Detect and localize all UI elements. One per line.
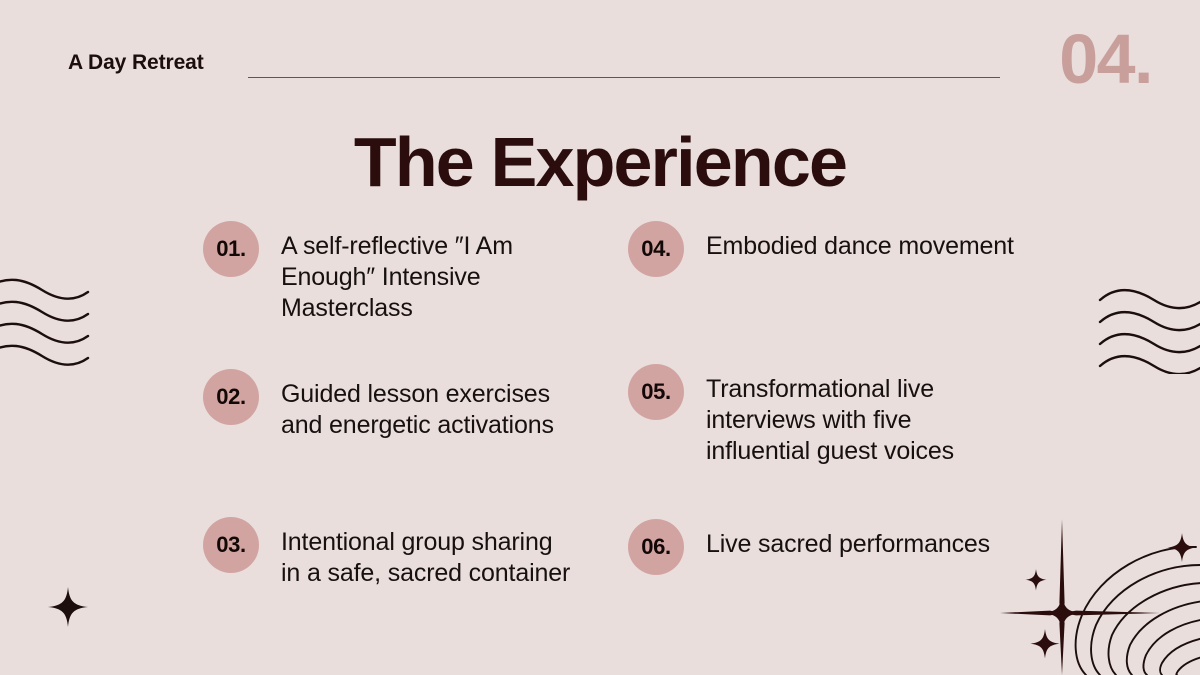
list-item-badge: 01. <box>203 221 259 277</box>
list-item-text: A self-reflective ″I Am Enough″ Intensiv… <box>281 221 571 324</box>
page-title: The Experience <box>0 126 1200 200</box>
list-item: 05. Transformational live interviews wit… <box>628 364 1016 467</box>
list-item-badge: 02. <box>203 369 259 425</box>
slide-header: A Day Retreat 04. <box>0 52 1200 104</box>
slide-root: A Day Retreat 04. The Experience 01. A s… <box>0 0 1200 675</box>
list-item: 06. Live sacred performances <box>628 519 1016 575</box>
list-item-badge: 06. <box>628 519 684 575</box>
list-item-badge: 04. <box>628 221 684 277</box>
list-item-text: Live sacred performances <box>706 519 1016 560</box>
eyebrow-label: A Day Retreat <box>68 52 204 73</box>
list-item-text: Transformational live interviews with fi… <box>706 364 1016 467</box>
list-item: 02. Guided lesson exercises and energeti… <box>203 369 571 441</box>
list-item-text: Intentional group sharing in a safe, sac… <box>281 517 571 589</box>
header-divider <box>248 77 1000 78</box>
list-item-text: Embodied dance movement <box>706 221 1016 262</box>
list-item: 01. A self-reflective ″I Am Enough″ Inte… <box>203 221 571 324</box>
list-item-badge: 03. <box>203 517 259 573</box>
experience-list: 01. A self-reflective ″I Am Enough″ Inte… <box>0 221 1200 641</box>
list-item: 04. Embodied dance movement <box>628 221 1016 277</box>
section-number: 04. <box>1059 24 1152 94</box>
list-item-badge: 05. <box>628 364 684 420</box>
list-item: 03. Intentional group sharing in a safe,… <box>203 517 571 589</box>
list-item-text: Guided lesson exercises and energetic ac… <box>281 369 571 441</box>
